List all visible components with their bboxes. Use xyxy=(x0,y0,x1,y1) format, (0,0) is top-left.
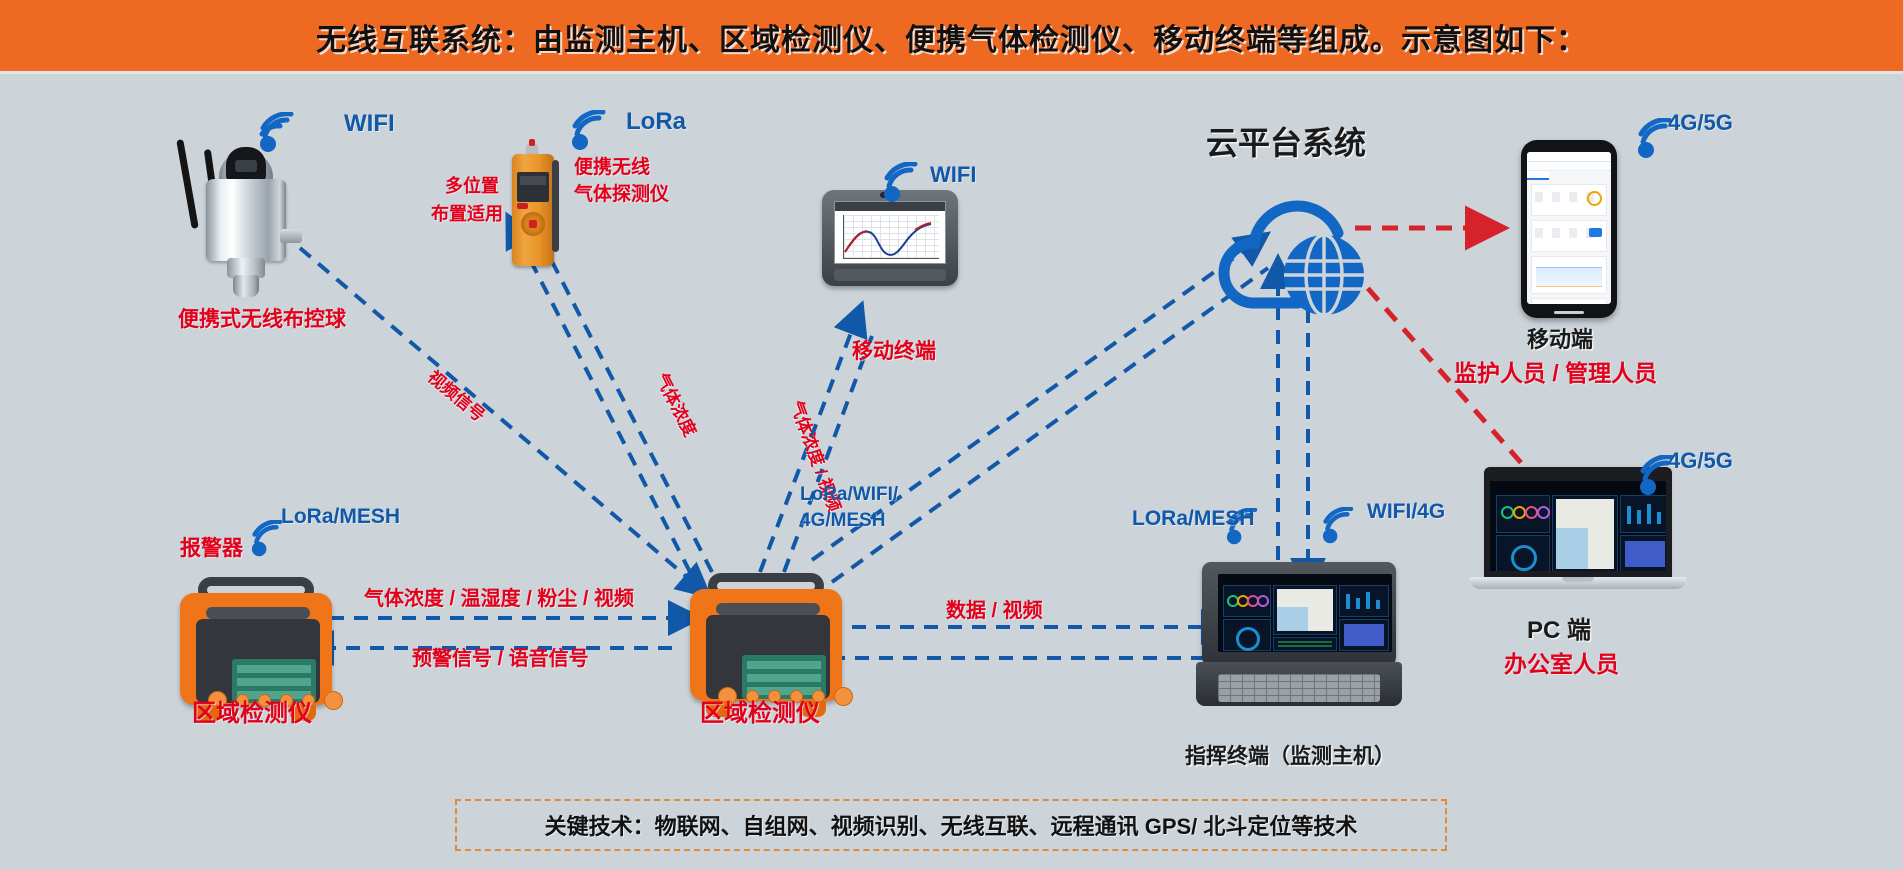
dashboard-video-panel xyxy=(1620,535,1666,571)
phone-summary-card-1 xyxy=(1531,184,1607,216)
ball-camera-signal-label: WIFI xyxy=(344,110,395,138)
phone-toolbar xyxy=(1527,162,1611,171)
portable-gas-detector-device xyxy=(508,140,566,270)
alarm-detector-signal-label: LoRa/MESH xyxy=(281,505,400,529)
phone-card-cells xyxy=(1535,192,1594,202)
phone-card-badge xyxy=(1589,228,1602,237)
rugged-laptop-screen xyxy=(1218,574,1392,652)
laptop-notch xyxy=(1562,577,1594,582)
detector-vent xyxy=(206,607,310,619)
cloud-platform-icon-group xyxy=(1212,175,1398,315)
mobile-client-label: 移动端 xyxy=(1527,327,1593,352)
dashboard-meters-panel xyxy=(1620,495,1666,533)
cloud-platform-label: 云平台系统 xyxy=(1206,125,1366,162)
alarm-detector-label: 区域检测仪 xyxy=(192,700,312,728)
phone-note-card xyxy=(1531,298,1607,304)
mobile-client-signal-label: 4G/5G xyxy=(1668,110,1733,135)
tablet-screen xyxy=(834,201,946,264)
alarm-detector-alarm-label: 报警器 xyxy=(180,537,243,561)
gas-detector-label-line1: 便携无线 xyxy=(574,157,650,179)
camera-body xyxy=(206,179,286,261)
tablet-button-strip xyxy=(834,269,946,281)
pc-client-sublabel: 办公室人员 xyxy=(1504,651,1619,677)
wifi-icon xyxy=(570,110,614,152)
gas-detector-body xyxy=(512,154,554,266)
dashboard-map-panel xyxy=(1273,585,1337,635)
alarm-area-detector-device xyxy=(178,577,334,707)
dashboard-gauges-panel xyxy=(1223,585,1271,617)
phone-summary-card-2 xyxy=(1531,220,1607,252)
footer-key-technologies-box: 关键技术：物联网、自组网、视频识别、无线互联、远程通讯 GPS/ 北斗定位等技术 xyxy=(455,799,1447,851)
area-detector-label: 区域检测仪 xyxy=(700,700,820,728)
wifi-icon xyxy=(882,162,926,204)
tablet-chart-curve xyxy=(835,202,947,265)
dashboard-gauges-panel xyxy=(1496,495,1550,533)
phone-status-bar xyxy=(1527,152,1611,162)
phone-chart-card xyxy=(1531,256,1607,294)
dashboard-donut-panel xyxy=(1223,619,1271,651)
link-label-data-video: 数据 / 视频 xyxy=(946,600,1043,623)
link-label-protocols-line2: 4G/MESH xyxy=(800,510,886,532)
link-area-detector-to-mobile-terminal-b xyxy=(784,336,872,572)
link-label-protocols-line1: LoRa/WIFI/ xyxy=(800,484,898,506)
phone-card-cells xyxy=(1535,228,1594,238)
gas-detector-clip xyxy=(552,160,559,252)
gas-detector-note-line1: 多位置 xyxy=(445,176,499,197)
command-terminal-device xyxy=(1196,562,1402,712)
diagram-canvas: 无线互联系统：由监测主机、区域检测仪、便携气体检测仪、移动终端等组成。示意图如下… xyxy=(0,0,1903,870)
mobile-terminal-label: 移动终端 xyxy=(852,340,936,364)
camera-base xyxy=(233,275,259,297)
mobile-client-sublabel: 监护人员 / 管理人员 xyxy=(1454,360,1657,386)
gas-detector-button xyxy=(517,203,528,209)
command-terminal-label: 指挥终端（监测主机） xyxy=(1185,745,1395,769)
dashboard-map-panel xyxy=(1552,495,1618,571)
gas-detector-dpad xyxy=(521,212,545,236)
phone-home-indicator xyxy=(1554,311,1584,314)
area-detector-device xyxy=(688,573,844,703)
rugged-laptop-keyboard xyxy=(1218,674,1380,702)
dashboard-video-panel xyxy=(1339,619,1389,651)
gas-detector-signal-label: LoRa xyxy=(626,108,686,136)
dashboard-log-panel xyxy=(1273,637,1337,651)
phone-card-badge xyxy=(1587,191,1602,206)
pc-client-signal-label: 4G/5G xyxy=(1668,448,1733,473)
footer-text: 关键技术：物联网、自组网、视频识别、无线互联、远程通讯 GPS/ 北斗定位等技术 xyxy=(545,809,1358,841)
rugged-laptop-lid xyxy=(1202,562,1396,666)
mobile-client-device xyxy=(1521,140,1617,318)
command-terminal-signal-right-label: WIFI/4G xyxy=(1367,500,1445,524)
ball-camera-label: 便携式无线布控球 xyxy=(178,308,346,332)
link-label-left-to-right: 气体浓度 / 温湿度 / 粉尘 / 视频 xyxy=(364,588,634,611)
link-area-detector-to-cloud-b xyxy=(832,268,1268,582)
dashboard-meters-panel xyxy=(1339,585,1389,617)
dashboard-donut-panel xyxy=(1496,535,1550,571)
antenna-left xyxy=(176,139,199,229)
phone-screen xyxy=(1527,152,1611,304)
camera-knob xyxy=(280,229,302,243)
wifi-icon xyxy=(1321,507,1361,545)
pc-client-label: PC 端 xyxy=(1527,617,1591,645)
wifi-icon xyxy=(258,112,302,154)
globe-icon xyxy=(1284,235,1364,315)
detector-body xyxy=(180,593,332,705)
mobile-terminal-signal-label: WIFI xyxy=(930,162,976,187)
mobile-terminal-device xyxy=(822,190,958,286)
phone-tab-strip xyxy=(1527,171,1549,180)
link-label-right-to-left: 预警信号 / 语音信号 xyxy=(412,648,589,671)
gas-detector-note-line2: 布置适用 xyxy=(431,204,503,225)
detector-vent xyxy=(716,603,820,615)
gas-detector-label-line2: 气体探测仪 xyxy=(574,184,669,206)
detector-body xyxy=(690,589,842,701)
command-terminal-signal-left-label: LORa/MESH xyxy=(1132,507,1255,531)
gas-detector-screen xyxy=(517,172,549,202)
cloud-icon xyxy=(1212,175,1398,315)
